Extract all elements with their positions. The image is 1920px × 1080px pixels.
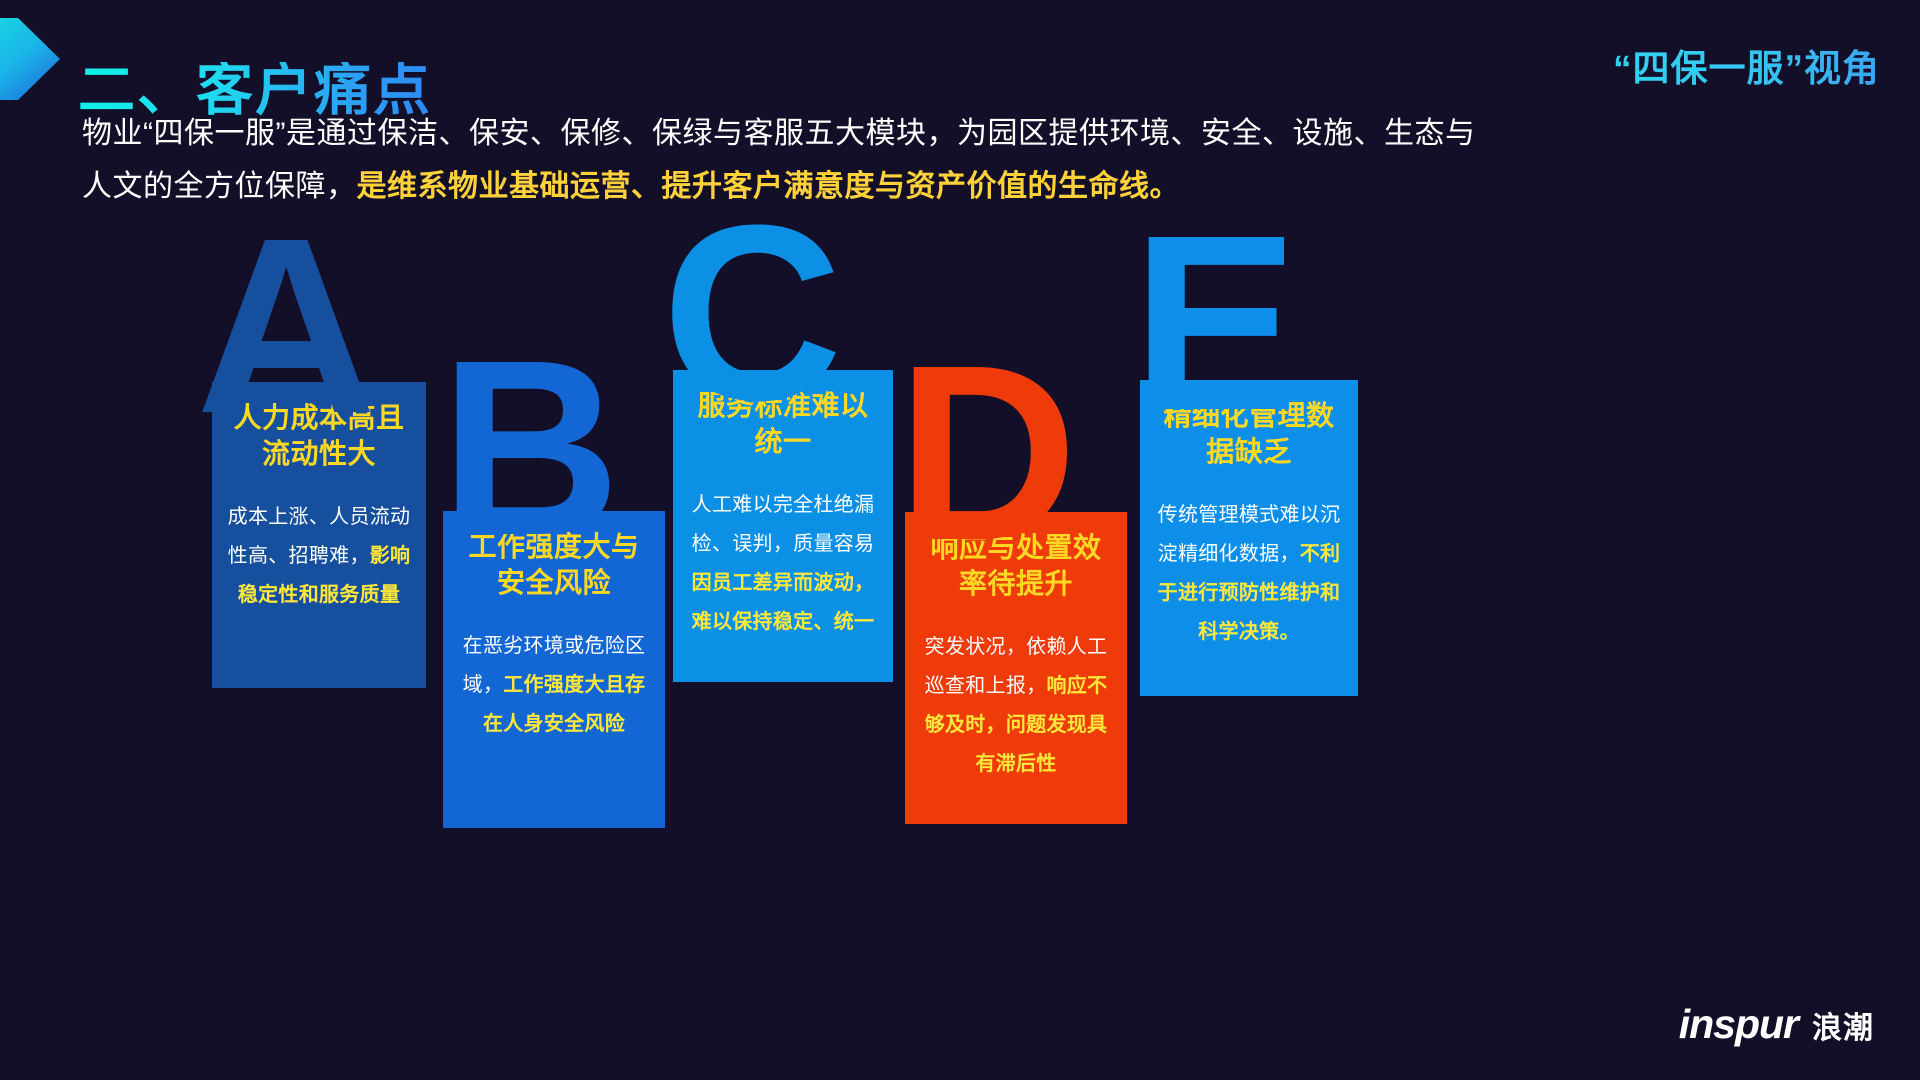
pain-point-card-a[interactable]: 人力成本高且流动性大 成本上涨、人员流动性高、招聘难，影响稳定性和服务质量: [212, 382, 426, 688]
logo-brand-en: inspur: [1679, 1001, 1798, 1048]
header-right-label: “四保一服”视角: [1613, 38, 1880, 92]
pain-point-card-b[interactable]: 工作强度大与安全风险 在恶劣环境或危险区域，工作强度大且存在人身安全风险: [443, 511, 665, 828]
intro-paragraph: 物业“四保一服”是通过保洁、保安、保修、保绿与客服五大模块，为园区提供环境、安全…: [82, 108, 1842, 213]
inspur-logo: inspur 浪潮: [1679, 1001, 1874, 1048]
card-c-body: 人工难以完全杜绝漏检、误判，质量容易因员工差异而波动，难以保持稳定、统一: [687, 486, 879, 642]
intro-line1: 物业“四保一服”是通过保洁、保安、保修、保绿与客服五大模块，为园区提供环境、安全…: [82, 117, 1475, 150]
card-c-body-plain: 人工难以完全杜绝漏检、误判，质量容易: [692, 494, 875, 555]
card-d-heading: 响应与处置效率待提升: [919, 530, 1113, 602]
intro-line2-highlight: 是维系物业基础运营、提升客户满意度与资产价值的生命线。: [357, 170, 1181, 203]
card-c-body-highlight: 因员工差异而波动，难以保持稳定、统一: [692, 572, 875, 633]
card-a-body: 成本上涨、人员流动性高、招聘难，影响稳定性和服务质量: [226, 498, 412, 615]
card-e-heading: 精细化管理数据缺乏: [1154, 398, 1344, 470]
pain-point-card-e[interactable]: 精细化管理数据缺乏 传统管理模式难以沉淀精细化数据，不利于进行预防性维护和科学决…: [1140, 380, 1358, 696]
card-c-heading: 服务标准难以统一: [687, 388, 879, 460]
card-a-heading: 人力成本高且流动性大: [226, 400, 412, 472]
card-e-body: 传统管理模式难以沉淀精细化数据，不利于进行预防性维护和科学决策。: [1154, 496, 1344, 652]
card-b-body-highlight: 工作强度大且存在人身安全风险: [483, 674, 645, 735]
pain-point-card-c[interactable]: 服务标准难以统一 人工难以完全杜绝漏检、误判，质量容易因员工差异而波动，难以保持…: [673, 370, 893, 682]
card-b-heading: 工作强度大与安全风险: [457, 529, 651, 601]
card-d-body: 突发状况，依赖人工巡查和上报，响应不够及时，问题发现具有滞后性: [919, 628, 1113, 784]
card-b-body: 在恶劣环境或危险区域，工作强度大且存在人身安全风险: [457, 627, 651, 744]
chevron-right-icon: [0, 18, 60, 100]
pain-point-card-d[interactable]: 响应与处置效率待提升 突发状况，依赖人工巡查和上报，响应不够及时，问题发现具有滞…: [905, 512, 1127, 824]
logo-brand-cn: 浪潮: [1812, 1003, 1874, 1047]
intro-line2-plain: 人文的全方位保障，: [82, 170, 357, 203]
